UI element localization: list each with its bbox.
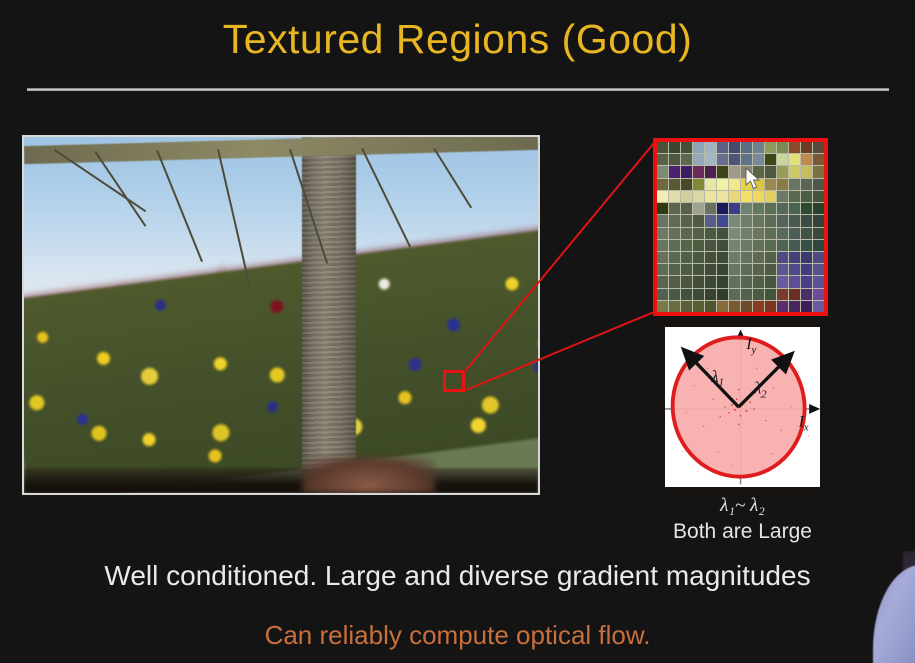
pixel-cell: [813, 252, 824, 263]
pixel-cell: [669, 252, 680, 263]
pixel-cell: [657, 191, 668, 202]
pixel-cell: [741, 289, 752, 300]
pixel-cell: [669, 301, 680, 312]
pixel-cell: [717, 240, 728, 251]
pixel-cell: [789, 276, 800, 287]
pixel-cell: [789, 264, 800, 275]
pixel-cell: [753, 276, 764, 287]
pixel-cell: [777, 240, 788, 251]
statement-text: Well conditioned. Large and diverse grad…: [0, 560, 915, 592]
pixel-cell: [813, 166, 824, 177]
pixel-cell: [669, 166, 680, 177]
pixel-cell: [753, 142, 764, 153]
pixel-cell: [765, 203, 776, 214]
pixel-cell: [693, 191, 704, 202]
pixel-cell: [705, 289, 716, 300]
pixel-cell: [681, 301, 692, 312]
pixel-cell: [789, 252, 800, 263]
pixel-cell: [789, 228, 800, 239]
pixel-cell: [657, 276, 668, 287]
pixel-cell: [765, 289, 776, 300]
pixel-cell: [789, 301, 800, 312]
pixel-cell: [741, 154, 752, 165]
pixel-cell: [789, 142, 800, 153]
pixel-cell: [801, 142, 812, 153]
pixel-cell: [741, 252, 752, 263]
pixel-cell: [693, 289, 704, 300]
tree-and-flowerbed-photo: [22, 135, 540, 495]
pixel-cell: [681, 203, 692, 214]
pixel-cell: [681, 166, 692, 177]
pixel-cell: [657, 289, 668, 300]
pixel-cell: [813, 203, 824, 214]
pixel-cell: [753, 252, 764, 263]
pixel-cell: [765, 142, 776, 153]
pixel-cell: [717, 276, 728, 287]
pixel-cell: [813, 289, 824, 300]
pixel-cell: [741, 203, 752, 214]
both-are-large-caption: Both are Large: [639, 520, 846, 544]
pixel-cell: [741, 215, 752, 226]
pixel-cell: [801, 289, 812, 300]
pixel-cell: [657, 166, 668, 177]
pixel-cell: [729, 142, 740, 153]
pixel-cell: [717, 203, 728, 214]
pixel-cell: [813, 240, 824, 251]
pixel-cell: [801, 179, 812, 190]
red-selection-box[interactable]: [443, 370, 465, 392]
pixel-grid: [657, 142, 824, 312]
pixel-cell: [777, 154, 788, 165]
pixel-cell: [801, 240, 812, 251]
pixel-cell: [789, 154, 800, 165]
pixel-cell: [777, 252, 788, 263]
pixel-cell: [753, 289, 764, 300]
pixel-cell: [789, 240, 800, 251]
pixel-cell: [765, 179, 776, 190]
pixel-cell: [789, 215, 800, 226]
pixel-cell: [729, 240, 740, 251]
pixel-cell: [681, 179, 692, 190]
pixel-cell: [717, 166, 728, 177]
pixel-cell: [729, 179, 740, 190]
pixel-cell: [729, 215, 740, 226]
pixel-cell: [753, 154, 764, 165]
pixel-cell: [657, 264, 668, 275]
pixel-cell: [801, 228, 812, 239]
pixel-cell: [801, 215, 812, 226]
pixel-cell: [681, 215, 692, 226]
pixel-cell: [705, 240, 716, 251]
pixel-cell: [741, 228, 752, 239]
pixel-cell: [657, 142, 668, 153]
pixel-cell: [657, 215, 668, 226]
lecturer-shoulder-overlay: [869, 551, 915, 663]
pixel-cell: [801, 264, 812, 275]
pixel-cell: [777, 289, 788, 300]
pixel-cell: [729, 166, 740, 177]
pixel-cell: [669, 203, 680, 214]
pixel-cell: [765, 240, 776, 251]
pixel-cell: [693, 228, 704, 239]
pixel-cell: [777, 203, 788, 214]
pixel-cell: [801, 252, 812, 263]
pixel-cell: [729, 191, 740, 202]
lecturer-shoulder: [873, 565, 915, 663]
pixel-cell: [681, 142, 692, 153]
eigenvalue-ellipse-diagram: λ1 λ2 Iy Ix: [659, 321, 826, 493]
x-axis-label: Ix: [798, 413, 809, 433]
pixel-cell: [717, 228, 728, 239]
pixel-cell: [729, 203, 740, 214]
pixel-cell: [777, 228, 788, 239]
pixel-cell: [729, 228, 740, 239]
pixel-cell: [813, 264, 824, 275]
pixel-cell: [813, 301, 824, 312]
pixel-cell: [657, 228, 668, 239]
pixel-cell: [669, 289, 680, 300]
pixel-cell: [705, 228, 716, 239]
pixel-cell: [813, 142, 824, 153]
pixel-cell: [813, 191, 824, 202]
pixel-cell: [765, 301, 776, 312]
pixel-cell: [657, 301, 668, 312]
lambda-relation-caption: λ₁~ λ₂: [659, 495, 826, 517]
pixel-cell: [705, 203, 716, 214]
pixel-cell: [693, 142, 704, 153]
pixel-cell: [717, 191, 728, 202]
pixel-cell: [765, 215, 776, 226]
pixel-cell: [657, 252, 668, 263]
title-divider: [27, 88, 889, 91]
pixel-cell: [741, 276, 752, 287]
pixel-cell: [669, 276, 680, 287]
pixel-cell: [729, 252, 740, 263]
photo-foreground-strip: [24, 468, 538, 493]
pixel-cell: [741, 264, 752, 275]
pixel-cell: [693, 301, 704, 312]
pixel-cell: [789, 203, 800, 214]
pixel-cell: [717, 301, 728, 312]
pixel-cell: [765, 276, 776, 287]
pixel-cell: [777, 301, 788, 312]
pixel-cell: [789, 166, 800, 177]
pixel-cell: [729, 289, 740, 300]
pixel-cell: [693, 179, 704, 190]
pixel-cell: [777, 264, 788, 275]
pixel-cell: [753, 240, 764, 251]
pixel-cell: [801, 301, 812, 312]
pixel-cell: [789, 191, 800, 202]
pixel-cell: [693, 276, 704, 287]
pixel-cell: [681, 264, 692, 275]
pixel-cell: [681, 240, 692, 251]
pixel-cell: [813, 228, 824, 239]
pixel-cell: [777, 166, 788, 177]
pixel-cell: [813, 179, 824, 190]
pixel-cell: [729, 154, 740, 165]
pixel-cell: [717, 252, 728, 263]
page-title: Textured Regions (Good): [0, 16, 915, 63]
pixel-cell: [681, 191, 692, 202]
pixel-cell: [669, 179, 680, 190]
pixel-cell: [705, 179, 716, 190]
pixel-cell: [753, 215, 764, 226]
pixel-cell: [753, 264, 764, 275]
pixel-cell: [729, 264, 740, 275]
pixel-cell: [741, 301, 752, 312]
pixel-cell: [669, 215, 680, 226]
pixel-cell: [705, 301, 716, 312]
pixel-cell: [753, 191, 764, 202]
pixel-cell: [801, 276, 812, 287]
pixel-cell: [693, 264, 704, 275]
pixel-cell: [705, 154, 716, 165]
pixel-cell: [777, 179, 788, 190]
eigen-svg: λ1 λ2 Iy Ix: [665, 327, 820, 487]
pixel-cell: [669, 228, 680, 239]
pixel-cell: [717, 179, 728, 190]
pixel-cell: [669, 264, 680, 275]
pixel-cell: [669, 191, 680, 202]
pixel-cell: [741, 240, 752, 251]
pixel-cell: [693, 203, 704, 214]
pixel-cell: [729, 301, 740, 312]
pixel-cell: [801, 154, 812, 165]
pixel-cell: [741, 142, 752, 153]
pixel-cell: [765, 252, 776, 263]
pixel-cell: [789, 289, 800, 300]
pixel-cell: [669, 154, 680, 165]
pixel-cell: [777, 191, 788, 202]
pixel-cell: [777, 142, 788, 153]
pixel-cell: [657, 154, 668, 165]
pixel-cell: [753, 301, 764, 312]
pixel-cell: [693, 215, 704, 226]
pixel-cell: [717, 215, 728, 226]
pixel-cell: [717, 264, 728, 275]
pixel-cell: [705, 276, 716, 287]
pixel-cell: [717, 289, 728, 300]
pixel-cell: [705, 142, 716, 153]
pixel-cell: [753, 228, 764, 239]
pixel-cell: [765, 264, 776, 275]
pixel-cell: [681, 154, 692, 165]
photo-trunk-bark-texture: [302, 137, 356, 493]
pixel-cell: [669, 240, 680, 251]
pixel-cell: [813, 276, 824, 287]
conclusion-text: Can reliably compute optical flow.: [0, 620, 915, 651]
pixel-cell: [693, 252, 704, 263]
pixel-cell: [681, 252, 692, 263]
pixel-cell: [705, 191, 716, 202]
pixel-cell: [777, 276, 788, 287]
pixel-cell: [657, 240, 668, 251]
pixel-cell: [813, 154, 824, 165]
pixel-cell: [753, 203, 764, 214]
pixel-cell: [777, 215, 788, 226]
pixel-cell: [765, 166, 776, 177]
photo-blurred-person: [302, 457, 436, 493]
pixel-cell: [705, 166, 716, 177]
pixel-cell: [693, 154, 704, 165]
pixel-cell: [681, 276, 692, 287]
pixel-cell: [717, 154, 728, 165]
pixel-cell: [681, 289, 692, 300]
pixel-cell: [813, 215, 824, 226]
pixel-cell: [705, 215, 716, 226]
arrow-cursor: [745, 168, 761, 190]
pixel-cell: [801, 166, 812, 177]
pixel-cell: [657, 203, 668, 214]
slide-canvas: Textured Regions (Good): [0, 0, 915, 663]
pixel-cell: [669, 142, 680, 153]
pixel-cell: [801, 203, 812, 214]
pixel-cell: [705, 264, 716, 275]
pixel-cell: [801, 191, 812, 202]
pixel-cell: [729, 276, 740, 287]
pixel-cell: [717, 142, 728, 153]
pixel-cell: [681, 228, 692, 239]
pixel-cell: [741, 191, 752, 202]
magnified-pixel-patch: [653, 138, 828, 316]
pixel-cell: [765, 191, 776, 202]
pixel-cell: [765, 154, 776, 165]
pixel-cell: [765, 228, 776, 239]
pixel-cell: [789, 179, 800, 190]
pixel-cell: [693, 240, 704, 251]
pixel-cell: [657, 179, 668, 190]
pixel-cell: [693, 166, 704, 177]
pixel-cell: [705, 252, 716, 263]
